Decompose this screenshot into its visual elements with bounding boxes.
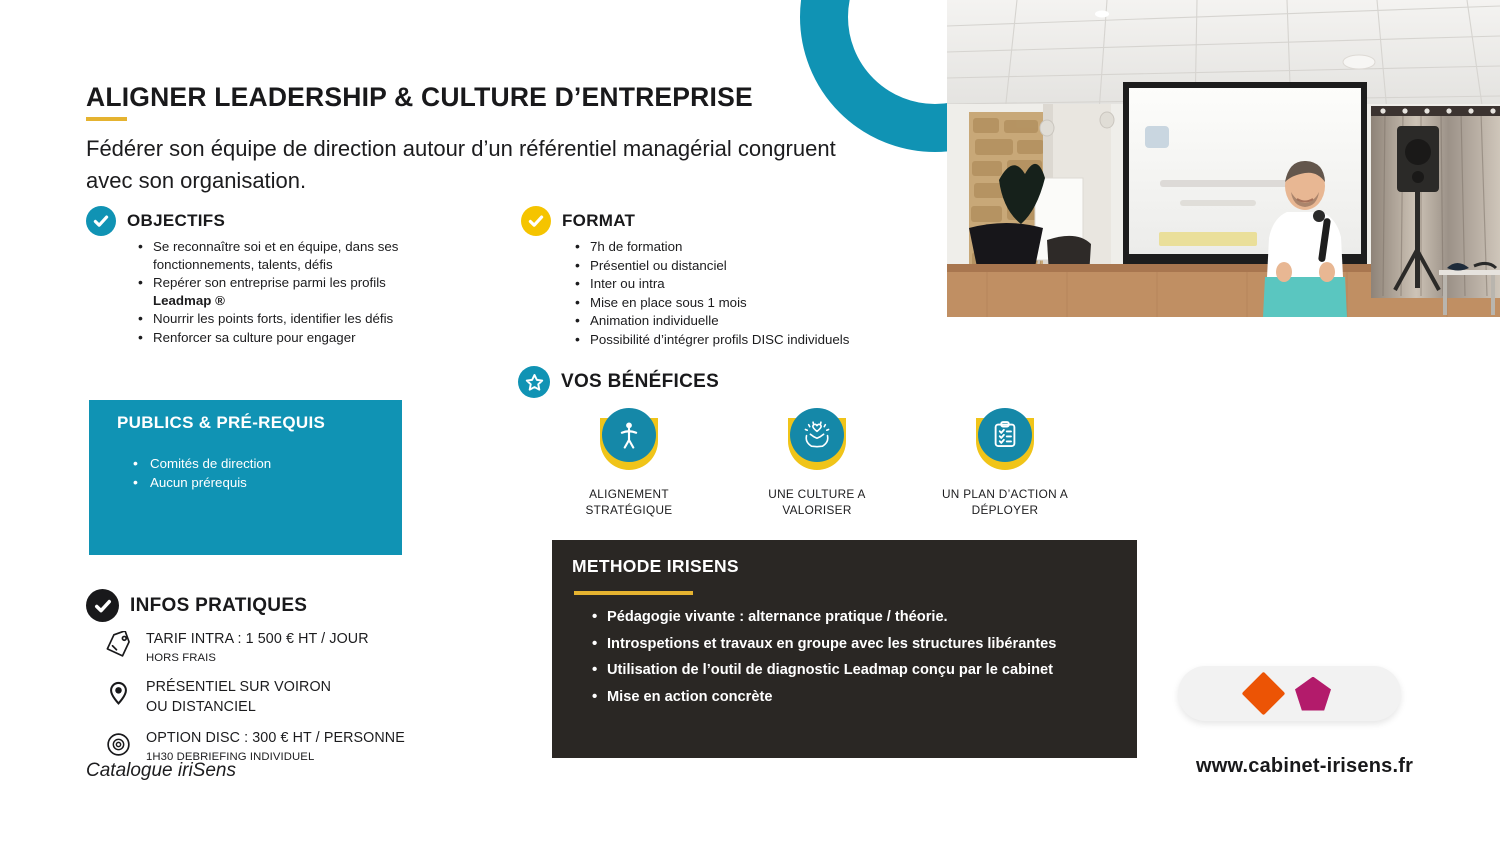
benefits-row: ALIGNEMENT STRATÉGIQUE UNE CULTURE A VAL… (565, 408, 1069, 518)
list-item: Utilisation de l’outil de diagnostic Lea… (592, 659, 1056, 682)
section-title-format: FORMAT (562, 211, 635, 231)
objectifs-list: Se reconnaître soi et en équipe, dans se… (136, 238, 436, 348)
page-title: ALIGNER LEADERSHIP & CULTURE D’ENTREPRIS… (86, 82, 753, 113)
list-item: Aucun prérequis (133, 474, 271, 493)
info-main-text: PRÉSENTIEL SUR VOIRON (146, 679, 331, 695)
benefit-label: UNE CULTURE A VALORISER (768, 487, 865, 518)
section-header-infos: INFOS PRATIQUES (86, 589, 307, 622)
section-title-benefices: VOS BÉNÉFICES (561, 371, 719, 393)
benefit-label: ALIGNEMENT STRATÉGIQUE (586, 487, 673, 518)
list-item: Repérer son entreprise parmi les profils… (136, 274, 436, 309)
methode-irisens-box: METHODE IRISENS Pédagogie vivante : alte… (552, 540, 1137, 758)
info-row: TARIF INTRA : 1 500 € HT / JOUR HORS FRA… (103, 630, 405, 666)
format-list: 7h de formationPrésentiel ou distancielI… (573, 238, 863, 350)
methode-accent-rule (574, 591, 693, 595)
diamond-icon (1242, 672, 1286, 716)
page-subtitle: Fédérer son équipe de direction autour d… (86, 133, 846, 197)
section-header-format: FORMAT (521, 206, 635, 236)
info-sub-text: OU DISTANCIEL (146, 699, 256, 715)
list-item: Inter ou intra (573, 275, 863, 293)
list-item: Comités de direction (133, 455, 271, 474)
list-item-emphasis: Leadmap ® (153, 293, 225, 308)
price-tag-icon (103, 630, 134, 661)
publics-list: Comités de direction Aucun prérequis (133, 455, 271, 492)
list-item: Présentiel ou distanciel (573, 257, 863, 275)
info-row: PRÉSENTIEL SUR VOIRON OU DISTANCIEL (103, 678, 405, 717)
benefit-label: UN PLAN D’ACTION A DÉPLOYER (942, 487, 1068, 518)
hands-heart-icon (790, 408, 844, 462)
section-title-objectifs: OBJECTIFS (127, 211, 225, 231)
list-item: Animation individuelle (573, 312, 863, 330)
info-main-text: OPTION DISC : 300 € HT / PERSONNE (146, 730, 405, 746)
catalogue-label: Catalogue iriSens (86, 760, 236, 782)
disc-icon (103, 729, 134, 760)
checklist-clipboard-icon (978, 408, 1032, 462)
methode-list: Pédagogie vivante : alternance pratique … (592, 606, 1056, 712)
list-item: Renforcer sa culture pour engager (136, 329, 436, 347)
list-item: Pédagogie vivante : alternance pratique … (592, 606, 1056, 629)
benefit-item: UNE CULTURE A VALORISER (753, 408, 881, 518)
publics-prerequis-box: PUBLICS & PRÉ-REQUIS Comités de directio… (89, 400, 402, 555)
pentagon-icon (1295, 677, 1331, 711)
slide-root: ALIGNER LEADERSHIP & CULTURE D’ENTREPRIS… (0, 0, 1500, 844)
list-item: 7h de formation (573, 238, 863, 256)
irisens-logo (1178, 666, 1401, 721)
methode-title: METHODE IRISENS (572, 556, 739, 577)
benefit-item: ALIGNEMENT STRATÉGIQUE (565, 408, 693, 518)
publics-title: PUBLICS & PRÉ-REQUIS (117, 413, 325, 433)
check-circle-icon (86, 589, 119, 622)
benefit-item: UN PLAN D’ACTION A DÉPLOYER (941, 408, 1069, 518)
list-item: Nourrir les points forts, identifier les… (136, 310, 436, 328)
check-circle-icon (86, 206, 116, 236)
section-title-infos: INFOS PRATIQUES (130, 595, 307, 617)
title-accent-rule (86, 117, 127, 121)
location-pin-icon (103, 678, 134, 709)
person-icon (602, 408, 656, 462)
infos-rows: TARIF INTRA : 1 500 € HT / JOUR HORS FRA… (103, 630, 405, 777)
section-header-benefices: VOS BÉNÉFICES (518, 366, 719, 398)
list-item: Possibilité d’intégrer profils DISC indi… (573, 331, 863, 349)
section-header-objectifs: OBJECTIFS (86, 206, 225, 236)
list-item: Mise en action concrète (592, 686, 1056, 709)
star-circle-icon (518, 366, 550, 398)
website-url: www.cabinet-irisens.fr (1196, 755, 1413, 778)
list-item: Se reconnaître soi et en équipe, dans se… (136, 238, 436, 273)
list-item: Mise en place sous 1 mois (573, 294, 863, 312)
info-sub-text: HORS FRAIS (146, 652, 216, 664)
list-item: Introspetions et travaux en groupe avec … (592, 633, 1056, 656)
conference-room-photo (947, 0, 1500, 317)
check-circle-icon (521, 206, 551, 236)
info-main-text: TARIF INTRA : 1 500 € HT / JOUR (146, 631, 369, 647)
